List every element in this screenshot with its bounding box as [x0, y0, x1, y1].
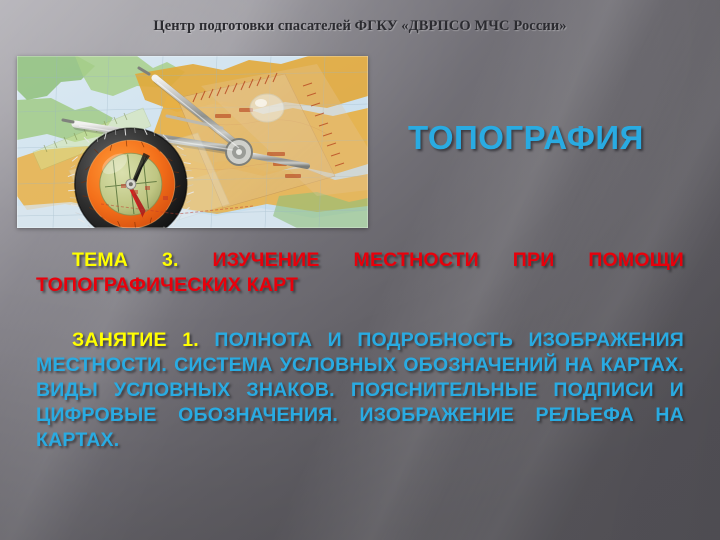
main-heading-topography: ТОПОГРАФИЯ	[408, 119, 708, 157]
topography-photo	[17, 56, 368, 228]
topic-lead-in: ТЕМА 3.	[72, 249, 179, 271]
map-illustration	[17, 56, 368, 228]
slide-header-title: Центр подготовки спасателей ФГКУ «ДВРПСО…	[0, 18, 720, 35]
presentation-slide: Центр подготовки спасателей ФГКУ «ДВРПСО…	[0, 0, 720, 540]
topic-text-block: ТЕМА 3. ИЗУЧЕНИЕ МЕСТНОСТИ ПРИ ПОМОЩИ ТО…	[36, 248, 684, 298]
lesson-text-block: ЗАНЯТИЕ 1. ПОЛНОТА И ПОДРОБНОСТЬ ИЗОБРАЖ…	[36, 328, 684, 453]
lesson-lead-in: ЗАНЯТИЕ 1.	[72, 329, 199, 351]
